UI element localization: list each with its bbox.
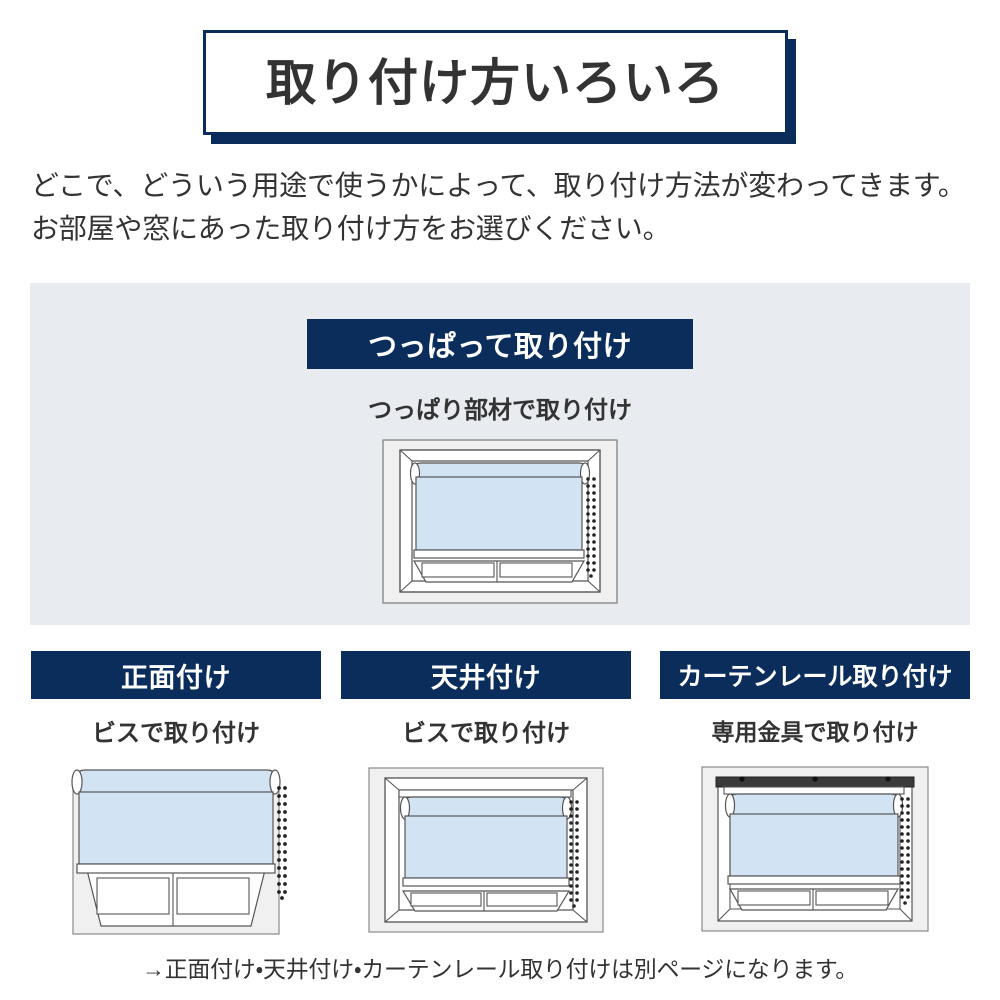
featured-method-label: つっぱって取り付け <box>368 323 632 365</box>
page-title: 取り付け方いろいろ <box>266 58 725 108</box>
page-title-block: 取り付け方いろいろ <box>203 30 788 135</box>
title-box: 取り付け方いろいろ <box>203 30 788 135</box>
lead-paragraph: どこで、どういう用途で使うかによって、取り付け方法が変わってきます。 お部屋や窓… <box>31 164 971 251</box>
method-label-face-mount: 正面付け <box>121 656 231 695</box>
method-sublabel-face-mount: ビスで取り付け <box>31 713 321 748</box>
method-illustration-ceiling-mount <box>341 760 631 940</box>
lead-line-1: どこで、どういう用途で使うかによって、取り付け方法が変わってきます。 <box>31 164 971 207</box>
method-label-ceiling-mount: 天井付け <box>431 656 541 695</box>
lead-line-2: お部屋や窓にあった取り付け方をお選びください。 <box>31 207 971 250</box>
featured-method-panel: つっぱって取り付け つっぱり部材で取り付け <box>30 283 970 625</box>
roller-blind-curtain-rail-mount-icon <box>690 759 940 939</box>
method-sublabel-ceiling-mount: ビスで取り付け <box>341 713 631 748</box>
method-columns: 正面付け ビスで取り付け <box>31 651 970 941</box>
roller-blind-ceiling-mount-icon <box>361 760 611 940</box>
method-label-curtain-rail-mount: カーテンレール取り付け <box>677 657 952 693</box>
roller-blind-face-mount-icon <box>51 760 301 940</box>
method-column-face-mount: 正面付け ビスで取り付け <box>31 651 321 941</box>
featured-method-banner: つっぱって取り付け <box>307 319 693 369</box>
method-column-ceiling-mount: 天井付け ビスで取り付け <box>341 651 631 941</box>
method-banner-ceiling-mount: 天井付け <box>341 651 631 699</box>
footer-note: →正面付け・天井付け・カーテンレール取り付けは別ページになります。 <box>0 950 1000 984</box>
method-column-curtain-rail-mount: カーテンレール取り付け 専用金具で取り付け <box>660 651 970 941</box>
featured-method-illustration <box>382 439 618 604</box>
bead-chain <box>277 786 287 900</box>
method-illustration-curtain-rail-mount <box>660 759 970 939</box>
featured-method-sublabel: つっぱり部材で取り付け <box>30 390 970 425</box>
method-banner-curtain-rail-mount: カーテンレール取り付け <box>660 651 970 699</box>
roller-blind-tension-mount-icon <box>382 439 618 604</box>
method-illustration-face-mount <box>31 760 321 940</box>
method-banner-face-mount: 正面付け <box>31 651 321 699</box>
method-sublabel-curtain-rail-mount: 専用金具で取り付け <box>660 713 970 747</box>
